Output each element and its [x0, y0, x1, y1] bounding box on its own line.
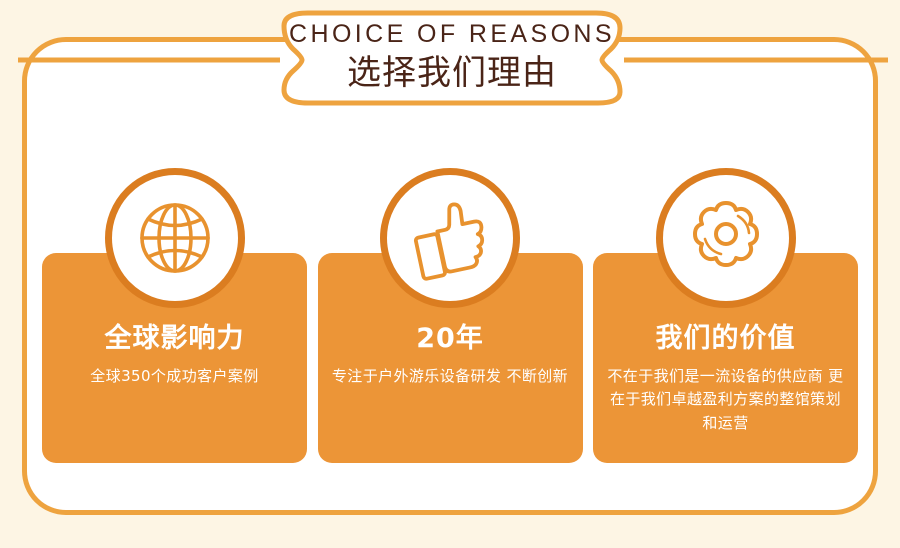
- icon-badge: [656, 168, 796, 308]
- feature-card[interactable]: 我们的价值 不在于我们是一流设备的供应商 更在于我们卓越盈利方案的整馆策划和运营: [593, 253, 858, 463]
- card-title: 20年: [416, 325, 484, 352]
- card-description: 专注于户外游乐设备研发 不断创新: [330, 365, 570, 388]
- thumbs-up-icon: [407, 195, 493, 281]
- feature-card[interactable]: 全球影响力 全球350个成功客户案例: [42, 253, 307, 463]
- card-description: 全球350个成功客户案例: [55, 365, 295, 388]
- gear-icon: [683, 195, 769, 281]
- promo-banner-stage: CHOICE OF REASONS 选择我们理由 全球影响力: [0, 0, 900, 548]
- banner-english-title: CHOICE OF REASONS: [289, 22, 615, 47]
- icon-badge: [380, 168, 520, 308]
- card-description: 不在于我们是一流设备的供应商 更在于我们卓越盈利方案的整馆策划和运营: [606, 365, 846, 435]
- card-title: 全球影响力: [105, 325, 245, 352]
- section-header-ribbon: CHOICE OF REASONS 选择我们理由: [268, 8, 636, 106]
- feature-card-row: 全球影响力 全球350个成功客户案例 20年 专注于户外游乐设备研发 不断创新: [42, 253, 858, 463]
- icon-badge: [105, 168, 245, 308]
- banner-chinese-title: 选择我们理由: [347, 54, 557, 92]
- card-title: 我们的价值: [656, 325, 796, 352]
- globe-icon: [132, 195, 218, 281]
- feature-card[interactable]: 20年 专注于户外游乐设备研发 不断创新: [318, 253, 583, 463]
